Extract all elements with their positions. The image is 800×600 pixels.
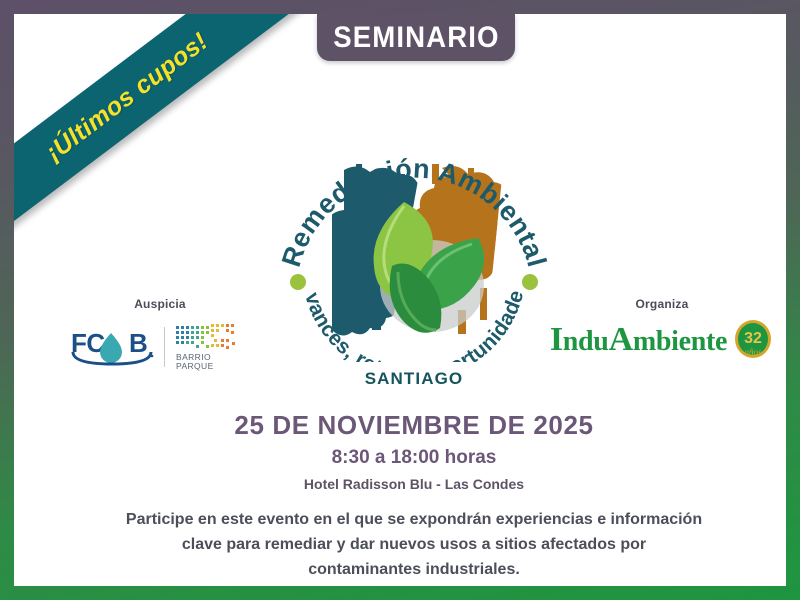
corner-ribbon-band: ¡Últimos cupos! xyxy=(14,14,304,251)
induambiente-part4: mbiente xyxy=(633,326,727,357)
corner-ribbon-label: ¡Últimos cupos! xyxy=(40,27,213,167)
event-logo: Remediación Ambiental Avances, retos y o… xyxy=(272,110,556,362)
barrio-parque-line2: PARQUE xyxy=(176,361,214,371)
seminario-tab: SEMINARIO xyxy=(317,14,515,61)
poster-canvas: Remediación Ambiental Avances, retos y o… xyxy=(0,0,800,600)
sponsors-auspicia: Auspicia FC B xyxy=(60,297,260,372)
barrio-parque-dot-grid xyxy=(176,324,235,349)
event-venue: Hotel Radisson Blu - Las Condes xyxy=(28,476,786,492)
seminario-tab-label: SEMINARIO xyxy=(333,21,499,55)
accent-dot-left xyxy=(290,274,306,290)
auspicia-caption: Auspicia xyxy=(60,297,260,311)
induambiente-part1: I xyxy=(550,321,563,358)
svg-text:B: B xyxy=(129,328,148,358)
poster-inner-card: Remediación Ambiental Avances, retos y o… xyxy=(14,14,786,586)
remediacion-ambiental-logo-graphic: Remediación Ambiental Avances, retos y o… xyxy=(272,110,556,362)
organiza-caption: Organiza xyxy=(542,297,782,311)
sponsor-logo-divider xyxy=(164,327,165,367)
sponsors-organiza: Organiza InduAmbiente 32 años xyxy=(542,297,782,361)
fcab-logo: FC B xyxy=(69,325,155,369)
badge-number: 32 xyxy=(744,330,762,347)
event-info-block: 25 DE NOVIEMBRE DE 2025 8:30 a 18:00 hor… xyxy=(28,410,786,492)
accent-dot-right xyxy=(522,274,538,290)
logo-city-label: SANTIAGO xyxy=(272,369,556,389)
event-description: Participe en este evento en el que se ex… xyxy=(124,508,704,582)
anniversary-32-badge: 32 años xyxy=(732,319,774,361)
induambiente-part3: A xyxy=(609,321,633,358)
event-date: 25 DE NOVIEMBRE DE 2025 xyxy=(28,410,786,441)
corner-ribbon: ¡Últimos cupos! xyxy=(14,14,304,264)
barrio-parque-logo: BARRIO PARQUE xyxy=(174,322,252,372)
badge-word: años xyxy=(745,347,763,357)
induambiente-logo: InduAmbiente xyxy=(550,323,727,357)
induambiente-part2: ndu xyxy=(563,326,609,357)
event-time: 8:30 a 18:00 horas xyxy=(28,447,786,469)
